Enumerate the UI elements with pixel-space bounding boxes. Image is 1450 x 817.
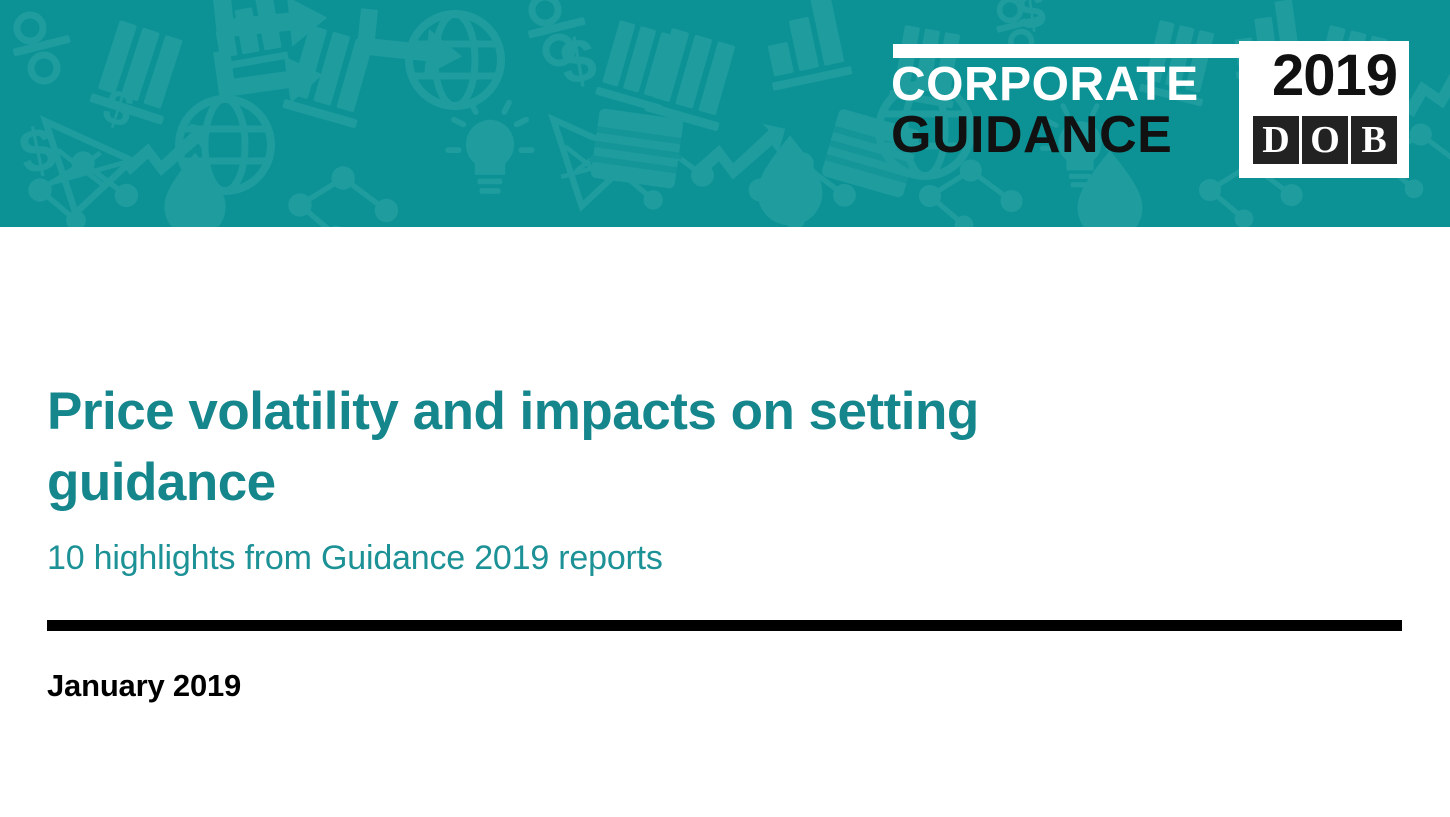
divider-rule [47, 620, 1402, 631]
logo-word-guidance: GUIDANCE [891, 109, 1172, 161]
title-slide: $ [0, 0, 1450, 817]
logo-top-rule [893, 44, 1241, 58]
page-title: Price volatility and impacts on setting … [47, 376, 1047, 518]
logo-dob-letter: B [1351, 116, 1397, 164]
logo-word-corporate: CORPORATE [891, 61, 1199, 109]
publication-date: January 2019 [47, 665, 241, 707]
header-band: $ [0, 0, 1450, 227]
logo-dob-letter: O [1302, 116, 1348, 164]
logo-dob-letter: D [1253, 116, 1299, 164]
page-subtitle: 10 highlights from Guidance 2019 reports [47, 536, 1047, 580]
logo-year: 2019 [1272, 45, 1397, 107]
logo-dob-mark: D O B [1253, 116, 1397, 164]
corporate-guidance-logo: CORPORATE GUIDANCE 2019 D O B [891, 41, 1409, 178]
